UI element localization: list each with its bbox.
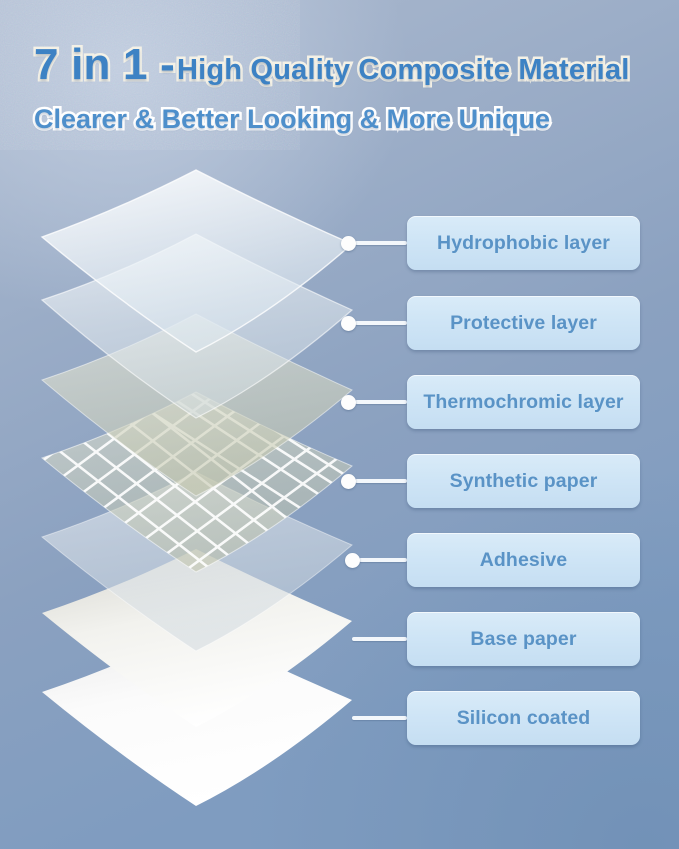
label-box-adhesive[interactable]: Adhesive xyxy=(407,533,640,587)
connector-dot-synthetic xyxy=(341,474,356,489)
label-box-silicon[interactable]: Silicon coated xyxy=(407,691,640,745)
connector-dot-adhesive xyxy=(345,553,360,568)
label-box-thermochromic[interactable]: Thermochromic layer xyxy=(407,375,640,429)
label-box-synthetic[interactable]: Synthetic paper xyxy=(407,454,640,508)
poster-canvas: 7 in 1 -High Quality Composite Material … xyxy=(0,0,679,849)
label-box-hydrophobic[interactable]: Hydrophobic layer xyxy=(407,216,640,270)
label-text-synthetic: Synthetic paper xyxy=(450,470,598,493)
connector-dot-thermochromic xyxy=(341,395,356,410)
connector-line-base-paper xyxy=(352,637,407,641)
connector-line-synthetic xyxy=(355,479,407,483)
label-text-thermochromic: Thermochromic layer xyxy=(423,391,623,414)
label-text-hydrophobic: Hydrophobic layer xyxy=(437,232,610,255)
connector-line-hydrophobic xyxy=(355,241,407,245)
label-text-adhesive: Adhesive xyxy=(480,549,568,572)
connector-line-silicon xyxy=(352,716,407,720)
connector-dot-hydrophobic xyxy=(341,236,356,251)
connector-line-thermochromic xyxy=(355,400,407,404)
connector-line-adhesive xyxy=(359,558,407,562)
label-text-protective: Protective layer xyxy=(450,312,597,335)
label-box-protective[interactable]: Protective layer xyxy=(407,296,640,350)
connector-dot-protective xyxy=(341,316,356,331)
label-text-silicon: Silicon coated xyxy=(457,707,591,730)
connector-line-protective xyxy=(355,321,407,325)
label-text-base-paper: Base paper xyxy=(470,628,576,651)
label-box-base-paper[interactable]: Base paper xyxy=(407,612,640,666)
